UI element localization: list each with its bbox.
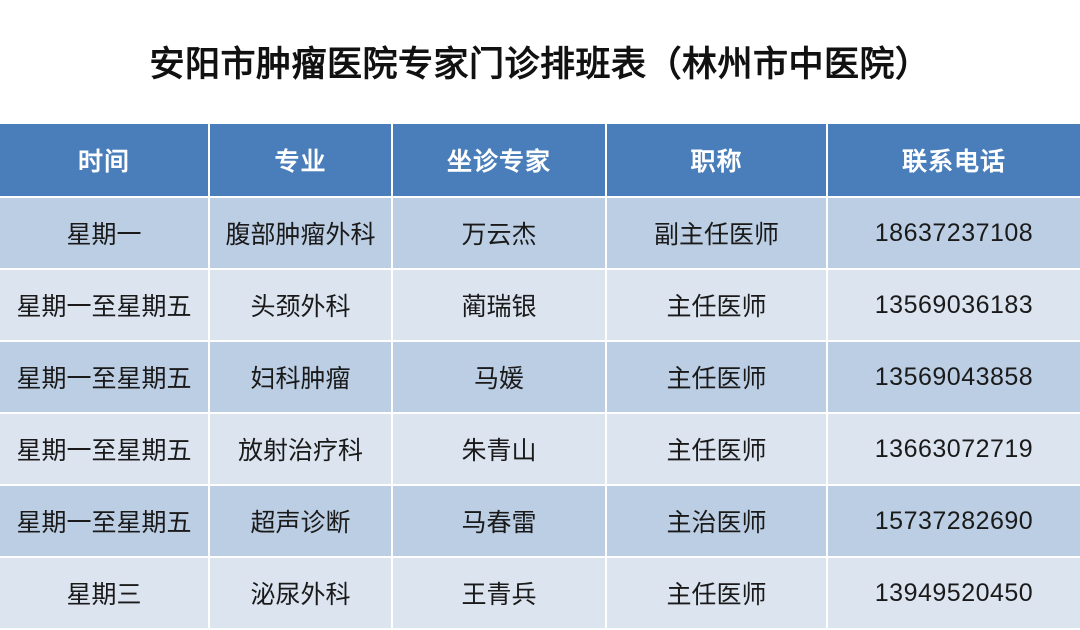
table-body: 星期一 腹部肿瘤外科 万云杰 副主任医师 18637237108 星期一至星期五…: [0, 197, 1080, 629]
cell-specialty: 妇科肿瘤: [209, 341, 392, 413]
cell-time: 星期一至星期五: [0, 341, 209, 413]
cell-time: 星期三: [0, 557, 209, 629]
column-header-title: 职称: [606, 123, 827, 197]
cell-title: 主任医师: [606, 413, 827, 485]
cell-title: 主任医师: [606, 557, 827, 629]
schedule-page: 安阳市肿瘤医院专家门诊排班表（林州市中医院） 时间 专业 坐诊专家 职称 联系电…: [0, 0, 1080, 608]
column-header-doctor: 坐诊专家: [392, 123, 606, 197]
cell-time: 星期一至星期五: [0, 269, 209, 341]
cell-doctor: 朱青山: [392, 413, 606, 485]
cell-time: 星期一至星期五: [0, 413, 209, 485]
column-header-specialty: 专业: [209, 123, 392, 197]
table-header-row: 时间 专业 坐诊专家 职称 联系电话: [0, 123, 1080, 197]
cell-phone: 18637237108: [827, 197, 1080, 269]
cell-time: 星期一: [0, 197, 209, 269]
cell-doctor: 万云杰: [392, 197, 606, 269]
cell-phone: 13569036183: [827, 269, 1080, 341]
table-row: 星期一至星期五 头颈外科 蔺瑞银 主任医师 13569036183: [0, 269, 1080, 341]
cell-specialty: 泌尿外科: [209, 557, 392, 629]
cell-title: 主任医师: [606, 269, 827, 341]
cell-doctor: 马媛: [392, 341, 606, 413]
cell-doctor: 马春雷: [392, 485, 606, 557]
cell-specialty: 放射治疗科: [209, 413, 392, 485]
cell-doctor: 王青兵: [392, 557, 606, 629]
table-row: 星期一至星期五 妇科肿瘤 马媛 主任医师 13569043858: [0, 341, 1080, 413]
cell-title: 主任医师: [606, 341, 827, 413]
cell-title: 主治医师: [606, 485, 827, 557]
column-header-phone: 联系电话: [827, 123, 1080, 197]
table-row: 星期一至星期五 放射治疗科 朱青山 主任医师 13663072719: [0, 413, 1080, 485]
cell-phone: 15737282690: [827, 485, 1080, 557]
table-header: 时间 专业 坐诊专家 职称 联系电话: [0, 123, 1080, 197]
cell-specialty: 超声诊断: [209, 485, 392, 557]
table-row: 星期三 泌尿外科 王青兵 主任医师 13949520450: [0, 557, 1080, 629]
cell-phone: 13569043858: [827, 341, 1080, 413]
cell-specialty: 腹部肿瘤外科: [209, 197, 392, 269]
cell-phone: 13949520450: [827, 557, 1080, 629]
cell-time: 星期一至星期五: [0, 485, 209, 557]
column-header-time: 时间: [0, 123, 209, 197]
cell-title: 副主任医师: [606, 197, 827, 269]
cell-specialty: 头颈外科: [209, 269, 392, 341]
table-row: 星期一至星期五 超声诊断 马春雷 主治医师 15737282690: [0, 485, 1080, 557]
cell-phone: 13663072719: [827, 413, 1080, 485]
table-row: 星期一 腹部肿瘤外科 万云杰 副主任医师 18637237108: [0, 197, 1080, 269]
cell-doctor: 蔺瑞银: [392, 269, 606, 341]
page-title: 安阳市肿瘤医院专家门诊排班表（林州市中医院）: [0, 0, 1080, 122]
outpatient-schedule-table: 时间 专业 坐诊专家 职称 联系电话 星期一 腹部肿瘤外科 万云杰 副主任医师 …: [0, 122, 1080, 630]
